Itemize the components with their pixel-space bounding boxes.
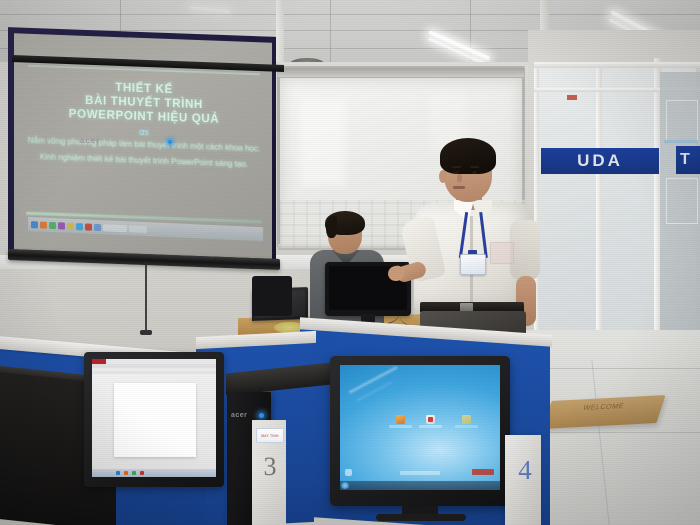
seated-person-hair-side [326, 216, 337, 238]
id-badge [460, 254, 486, 275]
start-button-icon[interactable] [341, 482, 349, 489]
partition-sticker-text: MAY TINH [261, 434, 278, 438]
windows-taskbar[interactable] [340, 481, 500, 490]
word-document-page [114, 383, 196, 457]
tower-brand-label: acer [231, 412, 261, 419]
desktop-icon-1[interactable] [396, 415, 405, 424]
mullion-top [534, 62, 700, 68]
monitor-left-screen[interactable] [92, 359, 216, 477]
desktop-badge [472, 469, 494, 475]
back-monitor-secondary [252, 276, 292, 322]
uda-sign: UDA [541, 148, 659, 174]
monitor-left[interactable] [84, 352, 224, 497]
desktop-icon-3[interactable] [462, 415, 471, 424]
corridor-rail [664, 140, 698, 143]
projector-screen-hook [140, 330, 152, 335]
station-number-right: 4 [512, 455, 538, 486]
presenter-nose [457, 174, 462, 182]
slide-text-block: THIẾT KẾ BÀI THUYẾT TRÌNH POWERPOINT HIỆ… [24, 78, 264, 171]
secondary-sign-text: T [680, 151, 690, 169]
power-led-icon [259, 413, 264, 418]
presenter-hair [440, 138, 496, 174]
desktop-icon-4[interactable] [345, 469, 352, 476]
monitor-right-brand-label: acer [64, 136, 116, 145]
presenter-mouth [453, 186, 465, 189]
presenter-eye-right [472, 171, 477, 174]
glass-grid-1 [666, 100, 698, 142]
mullion-mid [596, 62, 602, 362]
presenter-right-arm [510, 220, 540, 280]
desktop-watermark [400, 471, 440, 475]
partition-sticker: MAY TINH [256, 428, 284, 443]
word-taskbar [92, 469, 216, 477]
presenter-ear [439, 170, 447, 183]
projector-screen: THIẾT KẾ BÀI THUYẾT TRÌNH POWERPOINT HIỆ… [8, 32, 276, 264]
monitor-right-base [376, 514, 466, 521]
classroom-photo: THIẾT KẾ BÀI THUYẾT TRÌNH POWERPOINT HIỆ… [0, 0, 700, 525]
ceiling-post-left [276, 0, 284, 70]
monitor-right-power-led-icon [168, 140, 172, 144]
projector-screen-cord [145, 262, 147, 334]
glass-grid-2 [666, 178, 698, 224]
whiteboard-top-rail [278, 68, 524, 77]
presenter-shirt-pocket [490, 242, 514, 264]
exit-sign-icon [567, 95, 577, 100]
desktop-icon-2[interactable] [426, 415, 435, 424]
station-number-left: 3 [258, 452, 282, 482]
monitor-right-screen[interactable] [340, 365, 500, 490]
secondary-sign: T [676, 146, 700, 174]
monitor-right[interactable] [330, 356, 510, 521]
uda-sign-text: UDA [577, 151, 623, 171]
